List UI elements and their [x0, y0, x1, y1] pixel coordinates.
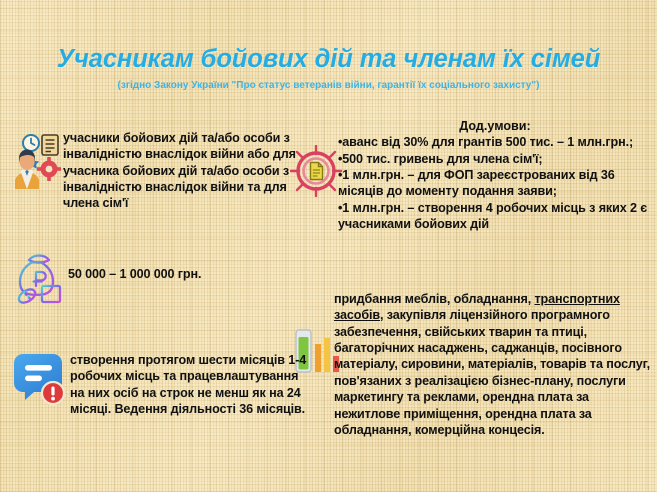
purposes-block: придбання меблів, обладнання, транспортн… — [334, 291, 654, 438]
list-item: •1 млн.грн. – створення 4 робочих місць … — [338, 200, 652, 233]
list-item: •аванс від 30% для грантів 500 тис. – 1 … — [338, 134, 652, 150]
amount-block: 50 000 – 1 000 000 грн. — [68, 266, 308, 282]
list-item: •500 тис. гривень для члена сім'ї; — [338, 151, 652, 167]
header: Учасникам бойових дій та членам їх сімей… — [0, 46, 657, 91]
purposes-text-before: придбання меблів, обладнання, — [334, 292, 534, 306]
purposes-text-after: , закупівля ліцензійного програмного заб… — [334, 308, 650, 437]
jobs-block: створення протягом шести місяців 1-4 роб… — [70, 352, 315, 417]
amount-text: 50 000 – 1 000 000 грн. — [68, 266, 308, 282]
list-item: •1 млн.грн. – для ФОП зареєстрованих від… — [338, 167, 652, 200]
money-bag-icon — [14, 250, 66, 306]
conditions-list: •аванс від 30% для грантів 500 тис. – 1 … — [338, 134, 652, 232]
jobs-text: створення протягом шести місяців 1-4 роб… — [70, 352, 315, 417]
conditions-block: Дод.умови: •аванс від 30% для грантів 50… — [338, 118, 652, 233]
page-title: Учасникам бойових дій та членам їх сімей — [0, 46, 657, 73]
slide-canvas: Учасникам бойових дій та членам їх сімей… — [0, 0, 657, 492]
conditions-title: Дод.умови: — [338, 118, 652, 134]
veterans-block: учасники бойових дій та/або особи з інва… — [63, 130, 311, 212]
message-alert-icon — [12, 352, 66, 406]
target-document-icon — [290, 145, 342, 197]
purposes-text: придбання меблів, обладнання, транспортн… — [334, 291, 654, 438]
person-profile-icon — [12, 133, 64, 189]
page-subtitle: (згідно Закону України "Про статус ветер… — [0, 80, 657, 91]
veterans-text: учасники бойових дій та/або особи з інва… — [63, 130, 311, 212]
